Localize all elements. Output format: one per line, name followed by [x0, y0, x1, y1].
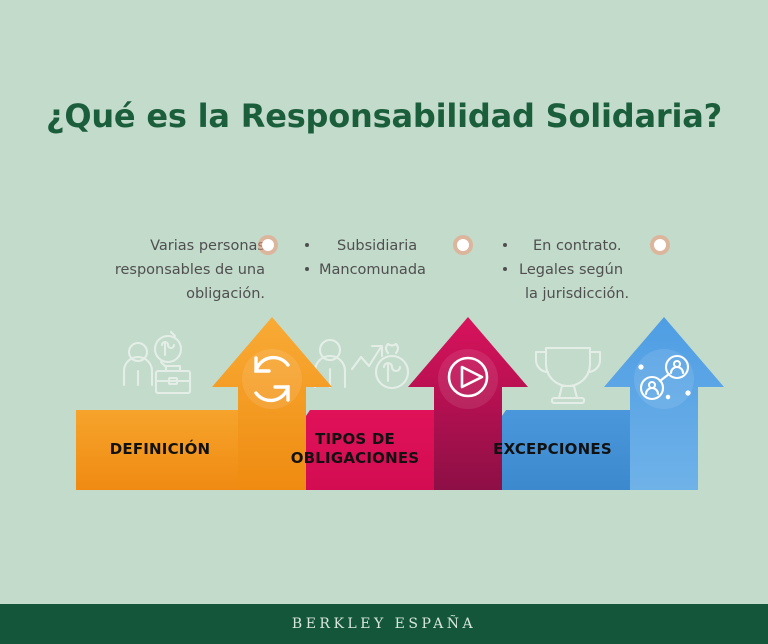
stage-label-excepciones: EXCEPCIONES [470, 440, 635, 459]
callout-marker-dot-icon [457, 239, 469, 251]
stage-label-line: DEFINICIÓN [110, 440, 211, 458]
bullet-dot-icon [503, 243, 507, 247]
stage-label-line: TIPOS DE [315, 430, 395, 448]
person-growth-moneybag-icon [315, 340, 408, 388]
callout-bullet-label: Mancomunada [319, 262, 426, 278]
callout-definicion: Varias personas responsables de una obli… [60, 234, 265, 306]
bullet-dot-icon [503, 267, 507, 271]
callout-bullet-item: Legales según [503, 258, 663, 282]
businessperson-money-briefcase-icon [124, 332, 190, 393]
infographic-canvas: ¿Qué es la Responsabilidad Solidaria? Va… [0, 0, 768, 644]
stage-label-line: EXCEPCIONES [493, 440, 612, 458]
bullet-dot-icon [305, 243, 309, 247]
callout-bullet-label: Legales según [519, 262, 623, 278]
callout-bullet-item: Mancomunada [305, 258, 465, 282]
callout-tipos: Subsidiaria Mancomunada [305, 234, 465, 282]
callout-line: obligación. [60, 282, 265, 306]
callout-line: Varias personas [60, 234, 265, 258]
callout-line: responsables de una [60, 258, 265, 282]
callout-marker-dot-icon [654, 239, 666, 251]
stage-label-tipos: TIPOS DE OBLIGACIONES [275, 430, 435, 468]
page-title: ¿Qué es la Responsabilidad Solidaria? [0, 97, 768, 135]
callout-bullet-item: Subsidiaria [305, 234, 465, 258]
callout-marker-dot-icon [262, 239, 274, 251]
callout-bullet-sub-label: la jurisdicción. [503, 282, 663, 306]
footer-bar: BERKLEY ESPAÑA [0, 604, 768, 644]
callout-bullet-label: Subsidiaria [337, 238, 417, 254]
trophy-icon [536, 348, 600, 403]
callout-bullet-item: En contrato. [503, 234, 663, 258]
bullet-dot-icon [305, 267, 309, 271]
callout-excepciones: En contrato. Legales según la jurisdicci… [503, 234, 663, 306]
stage-label-line: OBLIGACIONES [291, 449, 420, 467]
process-arrow-diagram [0, 305, 768, 505]
footer-brand: BERKLEY ESPAÑA [292, 616, 476, 632]
callout-bullet-label: En contrato. [533, 238, 621, 254]
stage-label-definicion: DEFINICIÓN [80, 440, 240, 459]
